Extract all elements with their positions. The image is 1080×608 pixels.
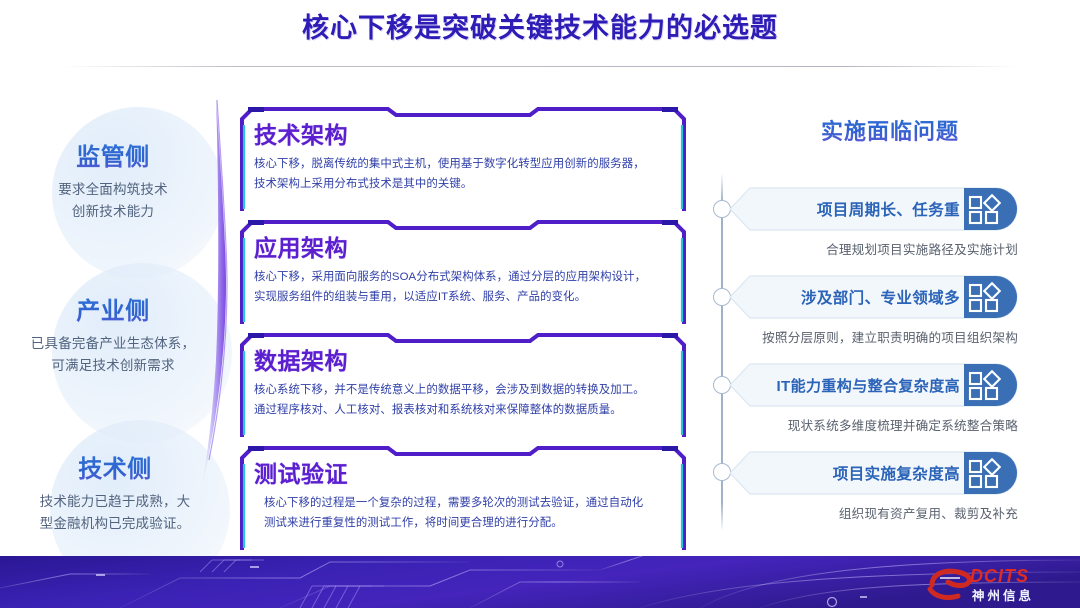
card-title: 测试验证 [254, 455, 348, 489]
footer-decoration [0, 556, 1080, 608]
card-body-line1: 核心下移，脱离传统的集中式主机，使用基于数字化转型应用创新的服务器， [254, 154, 674, 174]
card-title: 应用架构 [254, 229, 348, 263]
issue-label: 项目周期长、任务重 [728, 187, 972, 231]
company-logo: DCITS 神州信息 [924, 565, 1064, 605]
grid-diamond-icon [962, 363, 1018, 407]
right-column: 实施面临问题 项目周期长、任务重 合理规划项目实施路径及实施计划 [700, 105, 1080, 545]
card-body-line2: 技术架构上采用分布式技术是其中的关键。 [254, 174, 674, 194]
card-test-verification[interactable]: 测试验证 核心下移的过程是一个复杂的过程，需要多轮次的测试去验证，通过自动化 测… [238, 444, 688, 552]
card-title: 技术架构 [254, 116, 348, 150]
card-body-line1: 核心下移，采用面向服务的SOA分布式架构体系，通过分层的应用架构设计， [254, 267, 674, 287]
issue-item-1[interactable]: 项目周期长、任务重 [728, 187, 1018, 231]
slide-root: 核心下移是突破关键技术能力的必选题 监管侧 要求全面构筑技术 创新技术能力 产业… [0, 0, 1080, 608]
card-body-line2: 实现服务组件的组装与重用，以适应IT系统、服务、产品的变化。 [254, 287, 674, 307]
issue-desc-4: 组织现有资产复用、裁剪及补充 [728, 503, 1018, 522]
issue-desc-3: 现状系统多维度梳理并确定系统整合策略 [728, 415, 1018, 434]
architecture-cards: 技术架构 核心下移，脱离传统的集中式主机，使用基于数字化转型应用创新的服务器， … [238, 100, 690, 548]
grid-diamond-icon [962, 275, 1018, 319]
card-application-architecture[interactable]: 应用架构 核心下移，采用面向服务的SOA分布式架构体系，通过分层的应用架构设计，… [238, 218, 688, 326]
card-title: 数据架构 [254, 342, 348, 376]
grid-diamond-icon [962, 451, 1018, 495]
grid-diamond-icon-svg [962, 451, 1018, 495]
issue-label: 涉及部门、专业领域多 [728, 275, 972, 319]
issue-label: IT能力重构与整合复杂度高 [728, 363, 972, 407]
card-body: 核心下移的过程是一个复杂的过程，需要多轮次的测试去验证，通过自动化 测试来进行重… [264, 493, 674, 533]
card-tech-architecture[interactable]: 技术架构 核心下移，脱离传统的集中式主机，使用基于数字化转型应用创新的服务器， … [238, 105, 688, 213]
slide-title-wrap: 核心下移是突破关键技术能力的必选题 [0, 8, 1080, 48]
logo-text: DCITS [970, 566, 1029, 587]
footer-band [0, 556, 1080, 608]
page-title: 核心下移是突破关键技术能力的必选题 [0, 8, 1080, 48]
card-body-line1: 核心系统下移，并不是传统意义上的数据平移，会涉及到数据的转换及加工。 [254, 380, 674, 400]
issue-item-3[interactable]: IT能力重构与整合复杂度高 [728, 363, 1018, 407]
right-panel-title: 实施面临问题 [700, 114, 1080, 146]
grid-diamond-icon-svg [962, 187, 1018, 231]
card-body: 核心下移，脱离传统的集中式主机，使用基于数字化转型应用创新的服务器， 技术架构上… [254, 154, 674, 194]
issue-label: 项目实施复杂度高 [728, 451, 972, 495]
logo-subtext: 神州信息 [972, 585, 1034, 604]
blade-svg [186, 98, 234, 546]
title-divider [62, 66, 1018, 67]
card-data-architecture[interactable]: 数据架构 核心系统下移，并不是传统意义上的数据平移，会涉及到数据的转换及加工。 … [238, 331, 688, 439]
grid-diamond-icon-svg [962, 363, 1018, 407]
grid-diamond-icon-svg [962, 275, 1018, 319]
card-body-line1: 核心下移的过程是一个复杂的过程，需要多轮次的测试去验证，通过自动化 [264, 493, 674, 513]
blade-divider-decoration [186, 98, 234, 546]
issue-desc-1: 合理规划项目实施路径及实施计划 [728, 239, 1018, 258]
card-body: 核心下移，采用面向服务的SOA分布式架构体系，通过分层的应用架构设计， 实现服务… [254, 267, 674, 307]
issue-item-4[interactable]: 项目实施复杂度高 [728, 451, 1018, 495]
card-body-line2: 通过程序核对、人工核对、报表核对和系统核对来保障整体的数据质量。 [254, 400, 674, 420]
card-body-line2: 测试来进行重复性的测试工作，将时间更合理的进行分配。 [264, 513, 674, 533]
grid-diamond-icon [962, 187, 1018, 231]
card-body: 核心系统下移，并不是传统意义上的数据平移，会涉及到数据的转换及加工。 通过程序核… [254, 380, 674, 420]
issue-desc-2: 按照分层原则，建立职责明确的项目组织架构 [728, 327, 1018, 346]
issue-item-2[interactable]: 涉及部门、专业领域多 [728, 275, 1018, 319]
